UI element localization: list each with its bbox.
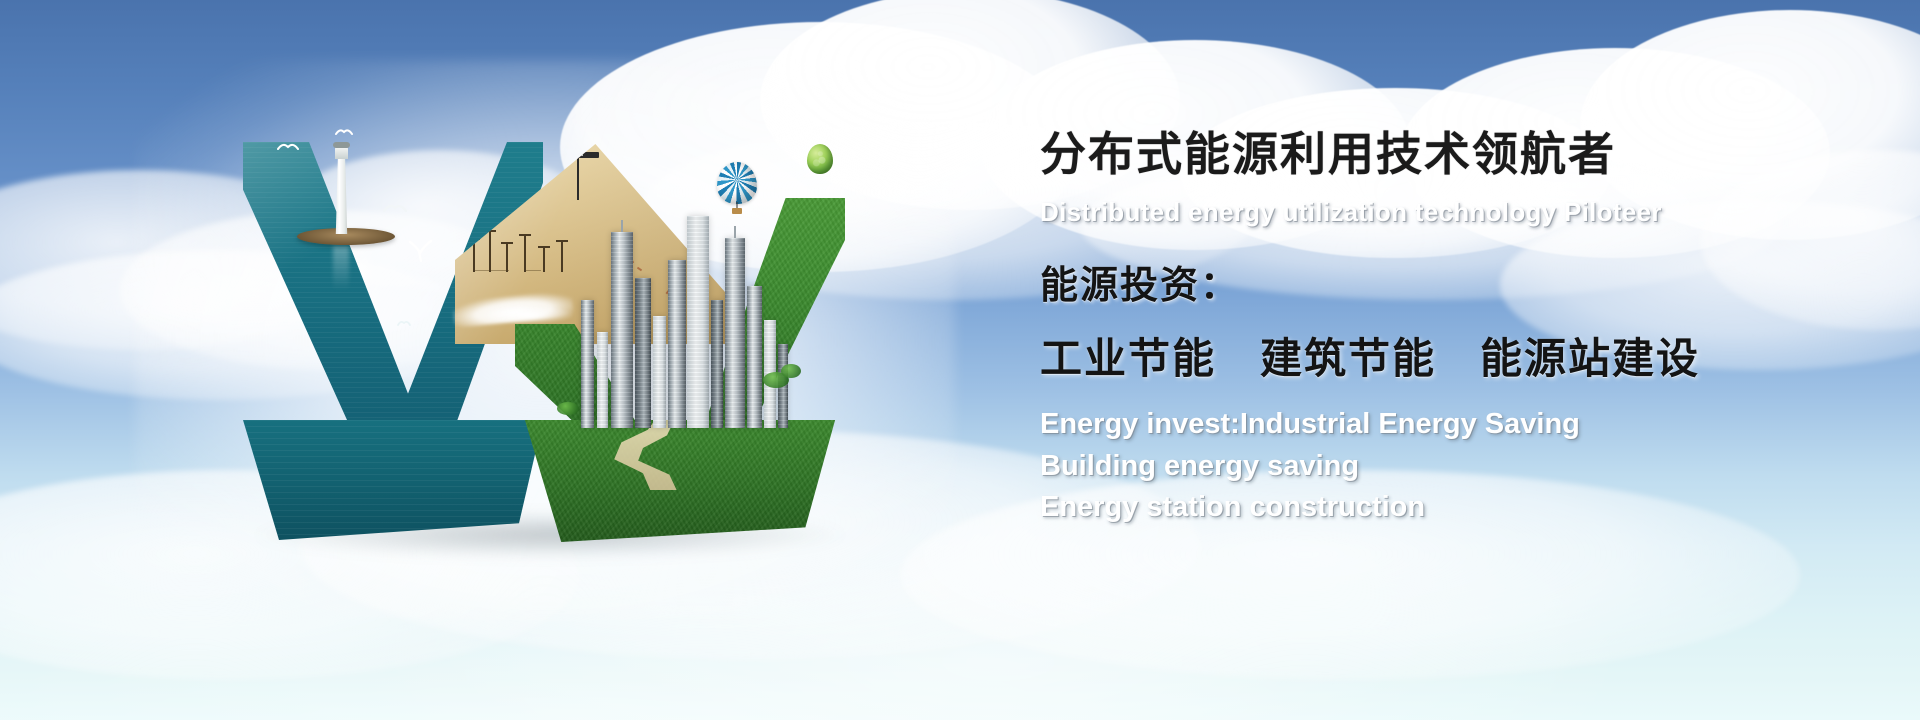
balloon-envelope xyxy=(717,162,757,204)
lighthouse-icon xyxy=(334,156,349,234)
seagull-icon xyxy=(407,238,433,264)
headline-chinese: 分布式能源利用技术领航者 xyxy=(1040,128,1800,181)
banner-copy: 分布式能源利用技术领航者 Distributed energy utilizat… xyxy=(1040,128,1800,528)
skyscraper-icon xyxy=(725,238,745,428)
skyscraper-icon xyxy=(668,260,686,428)
services-chinese: 工业节能 建筑节能 能源站建设 xyxy=(1040,325,1800,386)
seagull-icon xyxy=(335,128,353,136)
pole-shadow xyxy=(475,270,491,271)
ocean-v-front-face xyxy=(243,420,543,540)
power-pole-icon xyxy=(524,234,526,272)
signpost-icon xyxy=(559,152,599,158)
services-english-line: Energy station construction xyxy=(1040,487,1800,528)
seagull-icon xyxy=(383,202,407,214)
hero-banner: 分布式能源利用技术领航者 Distributed energy utilizat… xyxy=(0,0,1920,720)
water-ripple-texture xyxy=(243,420,543,540)
city-skyline xyxy=(573,178,793,428)
surf-foam xyxy=(483,306,573,324)
skyscraper-icon xyxy=(711,300,723,428)
power-pole-icon xyxy=(506,242,508,272)
lead-label-chinese: 能源投资： xyxy=(1040,254,1800,309)
skyscraper-icon xyxy=(747,286,762,428)
services-english-line: Energy invest:Industrial Energy Saving xyxy=(1040,404,1800,445)
skyscraper-icon xyxy=(611,232,633,428)
pole-shadow xyxy=(491,270,509,271)
skyscraper-icon xyxy=(597,332,608,428)
w-landscape-artwork xyxy=(215,120,875,540)
power-pole-icon xyxy=(543,246,545,272)
green-globe-icon xyxy=(807,144,833,174)
headline-english: Distributed energy utilization technolog… xyxy=(1040,197,1800,228)
skyscraper-icon xyxy=(653,316,666,428)
w-stage xyxy=(215,120,875,540)
grass-v-front-face xyxy=(515,420,845,542)
shrub xyxy=(557,402,579,415)
skyscraper-icon xyxy=(581,300,594,428)
services-english-list: Energy invest:Industrial Energy Saving B… xyxy=(1040,404,1800,528)
hot-air-balloon-icon xyxy=(717,162,757,214)
services-english-line: Building energy saving xyxy=(1040,446,1800,487)
shrub xyxy=(781,364,801,378)
seagull-icon xyxy=(277,142,299,151)
lighthouse-roof xyxy=(333,142,350,148)
skyscraper-icon xyxy=(687,216,709,428)
pole-shadow xyxy=(526,270,541,271)
grass-texture xyxy=(515,420,845,542)
lighthouse-reflection xyxy=(333,246,349,290)
power-pole-icon xyxy=(489,230,491,272)
balloon-basket xyxy=(732,208,742,214)
skyscraper-icon xyxy=(635,278,651,428)
seagull-icon xyxy=(397,320,411,327)
power-pole-icon xyxy=(561,240,563,272)
